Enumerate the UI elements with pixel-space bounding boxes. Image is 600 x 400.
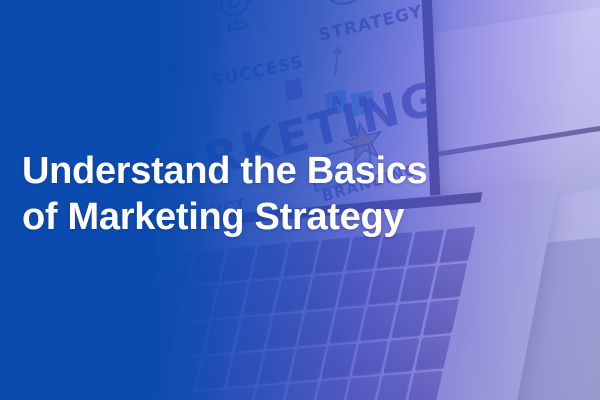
page-title-line-2: of Marketing Strategy [22, 194, 428, 240]
page-title: Understand the Basics of Marketing Strat… [22, 148, 428, 240]
page-title-line-1: Understand the Basics [22, 148, 428, 194]
marketing-hero-banner: DO A B MARKETING ADVERTISING SUCCESS STR… [0, 0, 600, 400]
